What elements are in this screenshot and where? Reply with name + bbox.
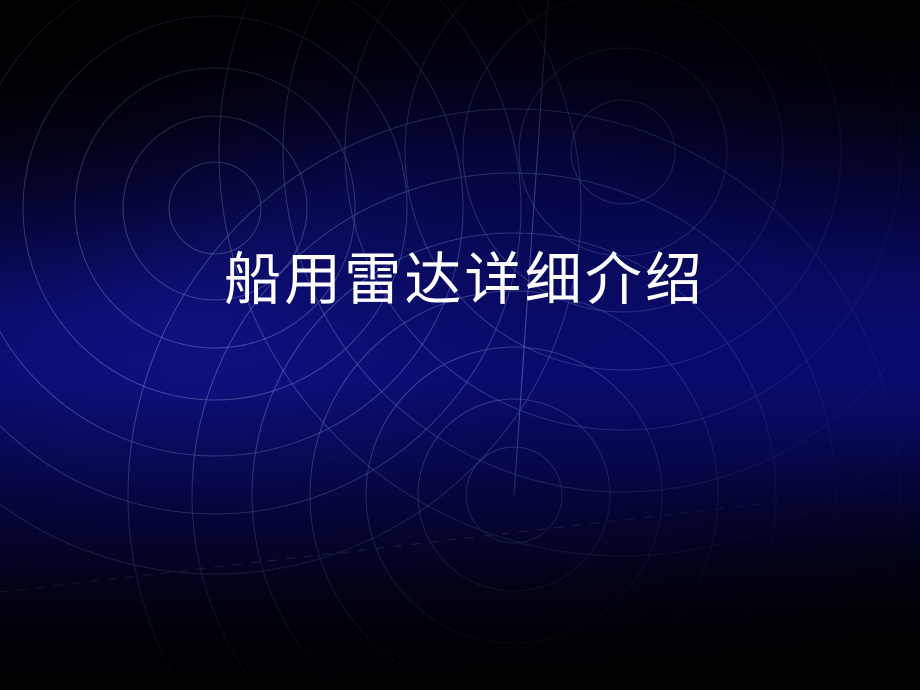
title-block: 船用雷达详细介绍 xyxy=(0,248,920,314)
slide-title: 船用雷达详细介绍 xyxy=(215,248,705,314)
radar-rings-artwork xyxy=(0,0,920,690)
title-slide: 船用雷达详细介绍 xyxy=(0,0,920,690)
